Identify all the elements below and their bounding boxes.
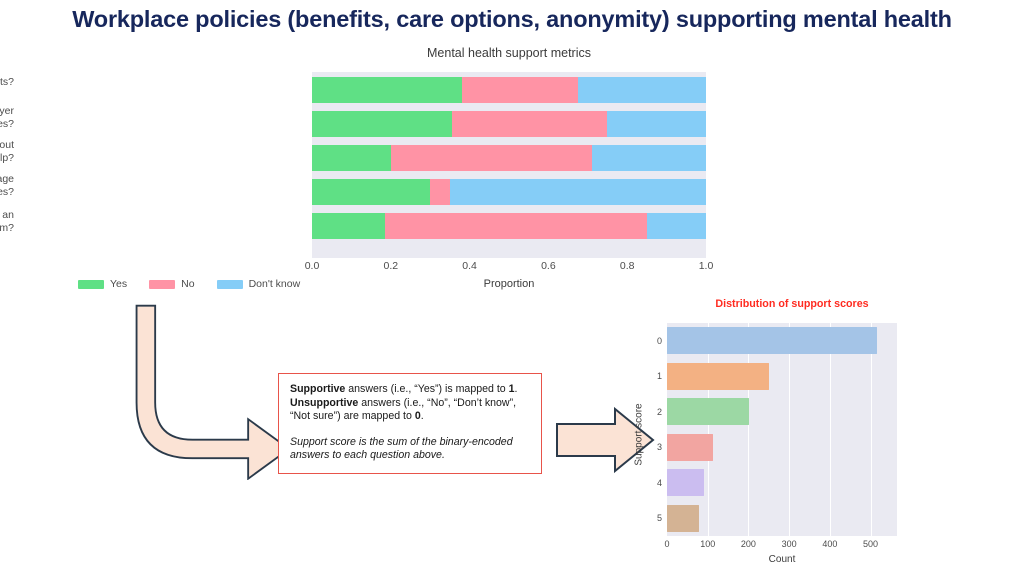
likert-legend: Yes No Don't know: [78, 278, 300, 290]
question-label-3: Is your anonymity protected if you choos…: [0, 173, 14, 199]
legend-swatch-no: [149, 280, 175, 289]
likert-x-axis: 0.00.20.40.60.81.0: [312, 260, 706, 276]
likert-segment-don-t-know[interactable]: [647, 213, 706, 239]
likert-x-tick: 0.8: [620, 260, 635, 272]
support-score-gridline: [830, 323, 831, 536]
unsupportive-bold: Unsupportive: [290, 397, 358, 409]
likert-segment-yes[interactable]: [312, 111, 452, 137]
likert-segment-no[interactable]: [385, 213, 647, 239]
likert-segment-yes[interactable]: [312, 213, 385, 239]
support-score-gridline: [708, 323, 709, 536]
likert-bar-row: [312, 145, 706, 171]
likert-segment-no[interactable]: [452, 111, 608, 137]
support-score-y-tick: 0: [646, 336, 662, 346]
likert-segment-no[interactable]: [391, 145, 592, 171]
likert-x-tick: 0.0: [305, 260, 320, 272]
support-score-x-tick: 300: [782, 539, 797, 549]
likert-segment-don-t-know[interactable]: [578, 77, 706, 103]
support-score-plot-area: [667, 323, 897, 536]
elbow-arrow-shape: [137, 306, 284, 479]
question-label-2: Does your employer provide resources to …: [0, 139, 14, 165]
support-score-bar[interactable]: [667, 434, 713, 461]
support-score-x-tick: 200: [741, 539, 756, 549]
support-score-chart-title: Distribution of support scores: [667, 298, 917, 310]
support-score-gridline: [748, 323, 749, 536]
support-score-gridline: [789, 323, 790, 536]
support-score-bar[interactable]: [667, 505, 699, 532]
likert-plot-area: [312, 72, 706, 258]
support-score-y-tick: 4: [646, 478, 662, 488]
support-score-y-tick: 1: [646, 371, 662, 381]
support-score-x-axis: 0100200300400500: [667, 539, 897, 553]
likert-bar-row: [312, 213, 706, 239]
supportive-rest: answers (i.e., “Yes”) is mapped to: [345, 383, 508, 395]
support-score-gridline: [871, 323, 872, 536]
legend-label-dont-know: Don't know: [249, 278, 301, 290]
support-score-y-tick: 3: [646, 442, 662, 452]
support-score-bar[interactable]: [667, 363, 769, 390]
elbow-arrow-down-right-icon: [122, 300, 284, 480]
supportive-end: .: [515, 383, 518, 395]
likert-segment-no[interactable]: [462, 77, 578, 103]
likert-segment-don-t-know[interactable]: [592, 145, 706, 171]
support-score-chart: Distribution of support scores Support s…: [620, 298, 920, 576]
question-label-0: Does your employer provide mental health…: [0, 76, 14, 89]
likert-bar-row: [312, 179, 706, 205]
likert-segment-don-t-know[interactable]: [450, 179, 706, 205]
legend-label-yes: Yes: [110, 278, 127, 290]
likert-bar-row: [312, 111, 706, 137]
likert-x-tick: 0.4: [462, 260, 477, 272]
legend-label-no: No: [181, 278, 194, 290]
support-score-x-axis-label: Count: [667, 554, 897, 565]
support-score-y-tick: 5: [646, 513, 662, 523]
support-score-y-axis-label: Support score: [634, 395, 645, 475]
legend-swatch-dont-know: [217, 280, 243, 289]
supportive-bold: Supportive: [290, 383, 345, 395]
support-score-bar[interactable]: [667, 469, 704, 496]
support-score-bar[interactable]: [667, 398, 749, 425]
likert-chart: Mental health support metrics Does your …: [0, 46, 740, 296]
support-score-x-tick: 100: [700, 539, 715, 549]
likert-segment-no[interactable]: [430, 179, 450, 205]
likert-segment-don-t-know[interactable]: [607, 111, 706, 137]
likert-x-axis-label: Proportion: [312, 278, 706, 290]
question-label-1: Do you know the options for mental healt…: [0, 105, 14, 131]
likert-x-tick: 0.6: [541, 260, 556, 272]
likert-segment-yes[interactable]: [312, 145, 391, 171]
support-score-x-tick: 500: [863, 539, 878, 549]
mapping-note-lines: Supportive answers (i.e., “Yes”) is mapp…: [290, 383, 531, 424]
legend-item-yes[interactable]: Yes: [78, 278, 127, 290]
support-score-bar[interactable]: [667, 327, 877, 354]
mapping-note-box: Supportive answers (i.e., “Yes”) is mapp…: [278, 373, 542, 474]
legend-item-dont-know[interactable]: Don't know: [217, 278, 301, 290]
support-score-x-tick: 400: [822, 539, 837, 549]
page-title: Workplace policies (benefits, care optio…: [0, 6, 1024, 33]
likert-chart-title: Mental health support metrics: [312, 46, 706, 60]
likert-x-tick: 1.0: [699, 260, 714, 272]
unsupportive-end: .: [421, 410, 424, 422]
support-score-y-tick: 2: [646, 407, 662, 417]
question-label-4: Has your employer ever discussed mental …: [0, 209, 14, 235]
legend-swatch-yes: [78, 280, 104, 289]
legend-item-no[interactable]: No: [149, 278, 194, 290]
likert-segment-yes[interactable]: [312, 179, 430, 205]
support-score-x-tick: 0: [664, 539, 669, 549]
likert-bar-row: [312, 77, 706, 103]
likert-x-tick: 0.2: [383, 260, 398, 272]
support-score-definition: Support score is the sum of the binary-e…: [290, 436, 531, 463]
likert-segment-yes[interactable]: [312, 77, 462, 103]
